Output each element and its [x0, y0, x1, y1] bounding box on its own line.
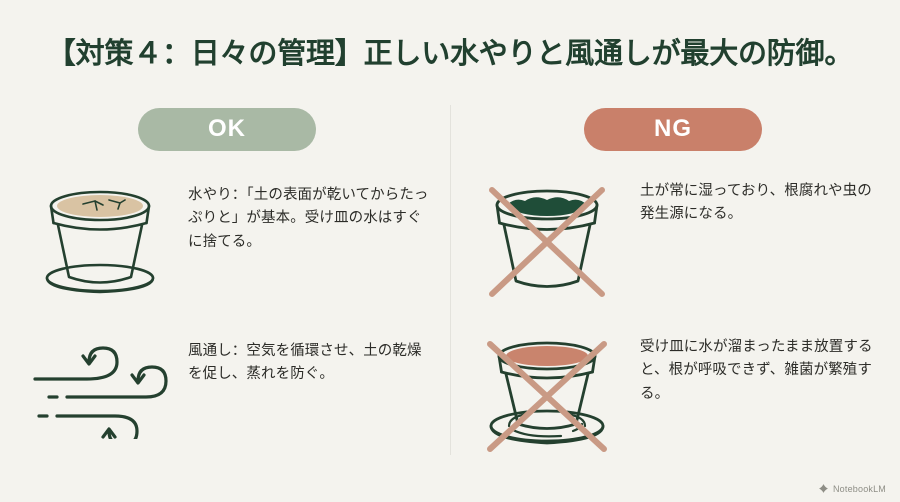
ng-wet-soil-text: 土が常に湿っており、根腐れや虫の発生源になる。 — [640, 178, 888, 227]
standing-water-saucer-crossed-icon — [469, 334, 629, 456]
column-divider — [450, 105, 451, 455]
wet-soil-pot-crossed-icon — [469, 178, 629, 300]
ng-row-wet-soil: 土が常に湿っており、根腐れや虫の発生源になる。 — [458, 178, 888, 300]
ng-column: NG — [458, 100, 888, 470]
dry-soil-pot-icon — [25, 178, 175, 298]
wet-soil-pot-icon-cell — [458, 178, 640, 300]
ng-badge-container: NG — [458, 108, 888, 151]
page-title: 【対策４：日々の管理】正しい水やりと風通しが最大の防御。 — [0, 30, 900, 72]
status-badge-ok: OK — [138, 108, 316, 151]
air-circulation-icon — [25, 334, 175, 439]
ng-standing-water-text: 受け皿に水が溜まったまま放置すると、根が呼吸できず、雑菌が繁殖する。 — [640, 334, 888, 406]
ok-ventilation-text: 風通し：空気を循環させ、土の乾燥を促し、蒸れを防ぐ。 — [188, 334, 442, 387]
standing-water-icon-cell — [458, 334, 640, 456]
dry-soil-pot-icon-cell — [12, 178, 188, 298]
air-circulation-icon-cell — [12, 334, 188, 439]
notebooklm-logo-icon — [818, 483, 829, 494]
ok-row-ventilation: 風通し：空気を循環させ、土の乾燥を促し、蒸れを防ぐ。 — [12, 334, 442, 439]
footer-brand-label: NotebookLM — [833, 484, 886, 494]
ok-watering-text: 水やり：「土の表面が乾いてからたっぷりと」が基本。受け皿の水はすぐに捨てる。 — [188, 178, 442, 254]
slide-root: 【対策４：日々の管理】正しい水やりと風通しが最大の防御。 OK — [0, 0, 900, 502]
footer-watermark: NotebookLM — [818, 483, 886, 494]
ng-row-standing-water: 受け皿に水が溜まったまま放置すると、根が呼吸できず、雑菌が繁殖する。 — [458, 334, 888, 456]
status-badge-ng: NG — [584, 108, 762, 151]
ok-column: OK — [12, 100, 442, 470]
ok-badge-container: OK — [12, 108, 442, 151]
ok-row-watering: 水やり：「土の表面が乾いてからたっぷりと」が基本。受け皿の水はすぐに捨てる。 — [12, 178, 442, 298]
